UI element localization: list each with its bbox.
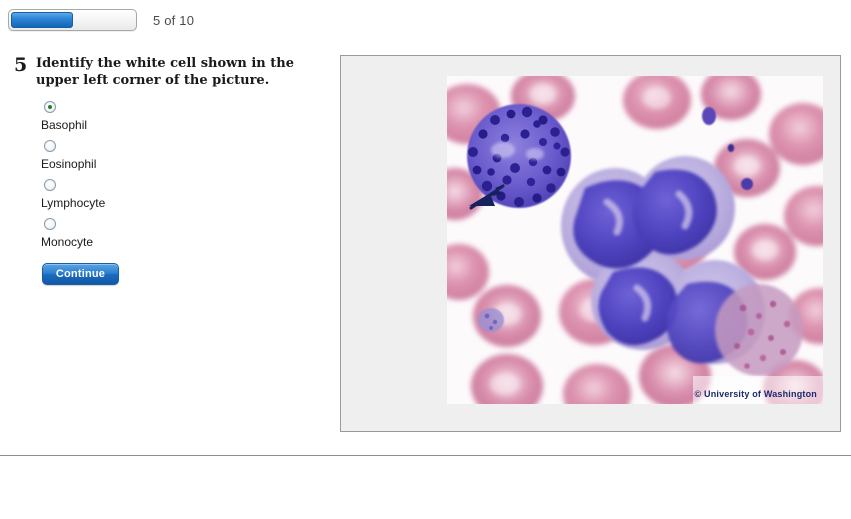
radio-monocyte[interactable] — [44, 218, 56, 230]
radio-eosinophil[interactable] — [44, 140, 56, 152]
question-text: Identify the white cell shown in the upp… — [36, 55, 306, 89]
answer-option-label: Lymphocyte — [41, 196, 314, 210]
radio-basophil[interactable] — [44, 101, 56, 113]
answer-option-label: Monocyte — [41, 235, 314, 249]
progress-label: 5 of 10 — [153, 13, 194, 28]
answer-option-eosinophil[interactable]: Eosinophil — [41, 140, 314, 171]
progress-bar — [8, 9, 137, 31]
progress-bar-fill — [11, 12, 73, 28]
answer-option-label: Basophil — [41, 118, 314, 132]
radio-lymphocyte[interactable] — [44, 179, 56, 191]
progress-header: 5 of 10 — [8, 9, 194, 31]
image-caption: © University of Washington — [694, 389, 817, 399]
answer-option-label: Eosinophil — [41, 157, 314, 171]
question-block: 5 Identify the white cell shown in the u… — [14, 55, 314, 285]
answer-option-lymphocyte[interactable]: Lymphocyte — [41, 179, 314, 210]
answer-option-basophil[interactable]: Basophil — [41, 101, 314, 132]
blood-smear-image: © University of Washington — [447, 76, 823, 404]
question-number: 5 — [14, 55, 36, 75]
blood-smear-svg — [447, 76, 823, 404]
continue-button[interactable]: Continue — [42, 263, 119, 285]
answer-option-monocyte[interactable]: Monocyte — [41, 218, 314, 249]
answer-options: BasophilEosinophilLymphocyteMonocyte — [41, 101, 314, 249]
microscopy-photo: © University of Washington — [447, 76, 823, 404]
question-heading: 5 Identify the white cell shown in the u… — [14, 55, 314, 89]
footer-divider — [0, 455, 851, 456]
image-panel: © University of Washington — [340, 55, 841, 432]
